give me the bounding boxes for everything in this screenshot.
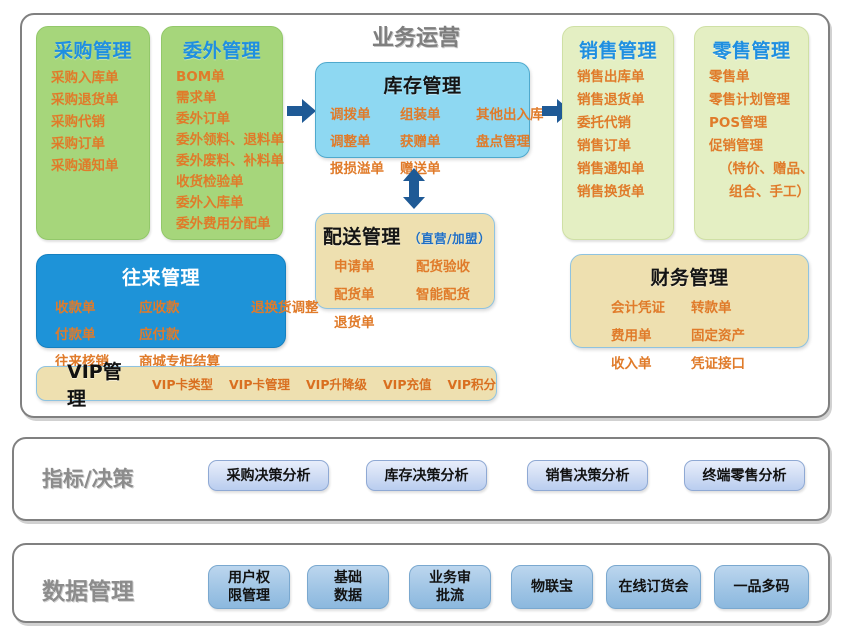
card-vip-item[interactable]: VIP卡管理 [229,374,290,393]
card-retail[interactable]: 零售管理 零售单 零售计划管理 POS管理 促销管理 （特价、赠品、 组合、手工… [694,26,809,240]
card-delivery-item[interactable]: 退货单 [334,311,416,331]
card-finance-item[interactable]: 会计凭证 [611,296,691,316]
card-transactions-title: 往来管理 [37,255,285,293]
card-sales-item[interactable]: 销售退货单 [563,89,673,112]
data-button-multi-code[interactable]: 一品多码 [714,565,809,609]
card-vip[interactable]: VIP管理 VIP卡类型 VIP卡管理 VIP升降级 VIP充值 VIP积分 [36,366,497,401]
card-transactions[interactable]: 往来管理 收款单 应收款 退换货调整 付款单 应付款 往来核销 商城专柜结算 [36,254,286,348]
card-retail-item[interactable]: 零售计划管理 [695,89,808,112]
metrics-button-procurement[interactable]: 采购决策分析 [208,460,329,491]
card-procurement-item[interactable]: 采购通知单 [37,155,149,177]
card-finance-item[interactable]: 凭证接口 [691,352,808,372]
metrics-button-inventory[interactable]: 库存决策分析 [366,460,487,491]
card-outsourcing-item[interactable]: 收货检验单 [162,172,282,193]
card-transactions-item[interactable]: 应收款 [139,296,251,316]
card-delivery-item[interactable]: 智能配货 [416,283,494,303]
card-sales-item[interactable]: 销售订单 [563,135,673,158]
card-procurement-item[interactable]: 采购订单 [37,133,149,155]
card-inventory-items: 调拨单 组装单 其他出入库 调整单 获赠单 盘点管理 报损溢单 赠送单 [330,103,529,177]
card-inventory-item[interactable]: 组装单 [400,103,476,123]
card-delivery-items: 申请单 配货验收 配货单 智能配货 退货单 [334,255,494,331]
data-button-basic-data[interactable]: 基础数据 [307,565,389,609]
card-delivery[interactable]: 配送管理 （直营/加盟） 申请单 配货验收 配货单 智能配货 退货单 [315,213,495,309]
metrics-button-retail[interactable]: 终端零售分析 [684,460,805,491]
data-button-business-approval[interactable]: 业务审批流 [409,565,491,609]
card-finance-item[interactable]: 费用单 [611,324,691,344]
card-delivery-item[interactable]: 申请单 [334,255,416,275]
card-sales-item[interactable]: 销售换货单 [563,181,673,204]
card-delivery-title: 配送管理 （直营/加盟） [316,214,494,252]
metrics-button-sales[interactable]: 销售决策分析 [527,460,648,491]
card-sales-item[interactable]: 销售通知单 [563,158,673,181]
card-finance-title: 财务管理 [571,255,808,293]
card-retail-item[interactable]: 零售单 [695,66,808,89]
card-retail-item-note: （特价、赠品、 [695,158,808,181]
card-outsourcing-item[interactable]: 委外废料、补料单 [162,151,282,172]
card-delivery-item[interactable]: 配货单 [334,283,416,303]
data-button-online-order[interactable]: 在线订货会 [606,565,701,609]
card-inventory-item[interactable]: 调拨单 [330,103,400,123]
arrow-right-icon [287,98,317,128]
card-vip-item[interactable]: VIP积分 [448,374,497,393]
card-vip-title: VIP管理 [67,357,136,411]
card-inventory-item[interactable]: 获赠单 [400,130,476,150]
card-outsourcing-item[interactable]: 委外订单 [162,109,282,130]
card-delivery-item [416,311,494,331]
card-finance-item[interactable]: 收入单 [611,352,691,372]
card-retail-title: 零售管理 [695,27,808,66]
data-button-iot[interactable]: 物联宝 [511,565,593,609]
card-procurement-title: 采购管理 [37,27,149,67]
card-procurement-item[interactable]: 采购代销 [37,111,149,133]
card-inventory[interactable]: 库存管理 调拨单 组装单 其他出入库 调整单 获赠单 盘点管理 报损溢单 赠送单 [315,62,530,158]
card-retail-item[interactable]: 促销管理 [695,135,808,158]
card-delivery-title-text: 配送管理 [323,226,401,248]
card-transactions-item[interactable]: 应付款 [139,323,251,343]
card-finance-item[interactable]: 固定资产 [691,324,808,344]
card-sales-title: 销售管理 [563,27,673,66]
card-transactions-item[interactable]: 收款单 [55,296,139,316]
card-transactions-item[interactable]: 付款单 [55,323,139,343]
card-sales-item[interactable]: 销售出库单 [563,66,673,89]
card-transactions-item [251,323,319,343]
card-vip-item[interactable]: VIP升降级 [306,374,367,393]
card-inventory-item[interactable]: 调整单 [330,130,400,150]
card-procurement[interactable]: 采购管理 采购入库单 采购退货单 采购代销 采购订单 采购通知单 [36,26,150,240]
card-outsourcing-item[interactable]: 需求单 [162,88,282,109]
card-outsourcing-item[interactable]: 委外领料、退料单 [162,130,282,151]
card-transactions-item[interactable]: 退换货调整 [251,296,319,316]
card-finance-item[interactable]: 转款单 [691,296,808,316]
card-vip-item[interactable]: VIP卡类型 [152,374,213,393]
data-button-user-permissions[interactable]: 用户权限管理 [208,565,290,609]
card-procurement-item[interactable]: 采购退货单 [37,89,149,111]
card-sales-item[interactable]: 委托代销 [563,112,673,135]
card-outsourcing-item[interactable]: BOM单 [162,67,282,88]
card-outsourcing-title: 委外管理 [162,27,282,67]
card-outsourcing[interactable]: 委外管理 BOM单 需求单 委外订单 委外领料、退料单 委外废料、补料单 收货检… [161,26,283,240]
business-operations-heading: 业务运营 [306,20,526,52]
card-inventory-item [476,157,544,177]
data-panel-label: 数据管理 [42,572,134,606]
card-delivery-subtitle: （直营/加盟） [408,231,491,246]
card-retail-item-note: 组合、手工） [695,181,808,204]
card-inventory-title: 库存管理 [316,63,529,101]
card-finance[interactable]: 财务管理 会计凭证 转款单 费用单 固定资产 收入单 凭证接口 [570,254,809,348]
card-inventory-item[interactable]: 报损溢单 [330,157,400,177]
card-inventory-item[interactable]: 盘点管理 [476,130,544,150]
card-outsourcing-item[interactable]: 委外费用分配单 [162,214,282,235]
card-inventory-item[interactable]: 其他出入库 [476,103,544,123]
arrow-up-down-icon [401,168,427,214]
card-finance-items: 会计凭证 转款单 费用单 固定资产 收入单 凭证接口 [611,296,808,372]
metrics-panel-label: 指标/决策 [42,463,134,493]
card-vip-item[interactable]: VIP充值 [383,374,432,393]
card-retail-item[interactable]: POS管理 [695,112,808,135]
card-sales[interactable]: 销售管理 销售出库单 销售退货单 委托代销 销售订单 销售通知单 销售换货单 [562,26,674,240]
card-delivery-item[interactable]: 配货验收 [416,255,494,275]
card-procurement-item[interactable]: 采购入库单 [37,67,149,89]
card-outsourcing-item[interactable]: 委外入库单 [162,193,282,214]
diagram-root: 业务运营 采购管理 采购入库单 采购退货单 采购代销 采购订单 采购通知单 委外… [0,0,859,630]
